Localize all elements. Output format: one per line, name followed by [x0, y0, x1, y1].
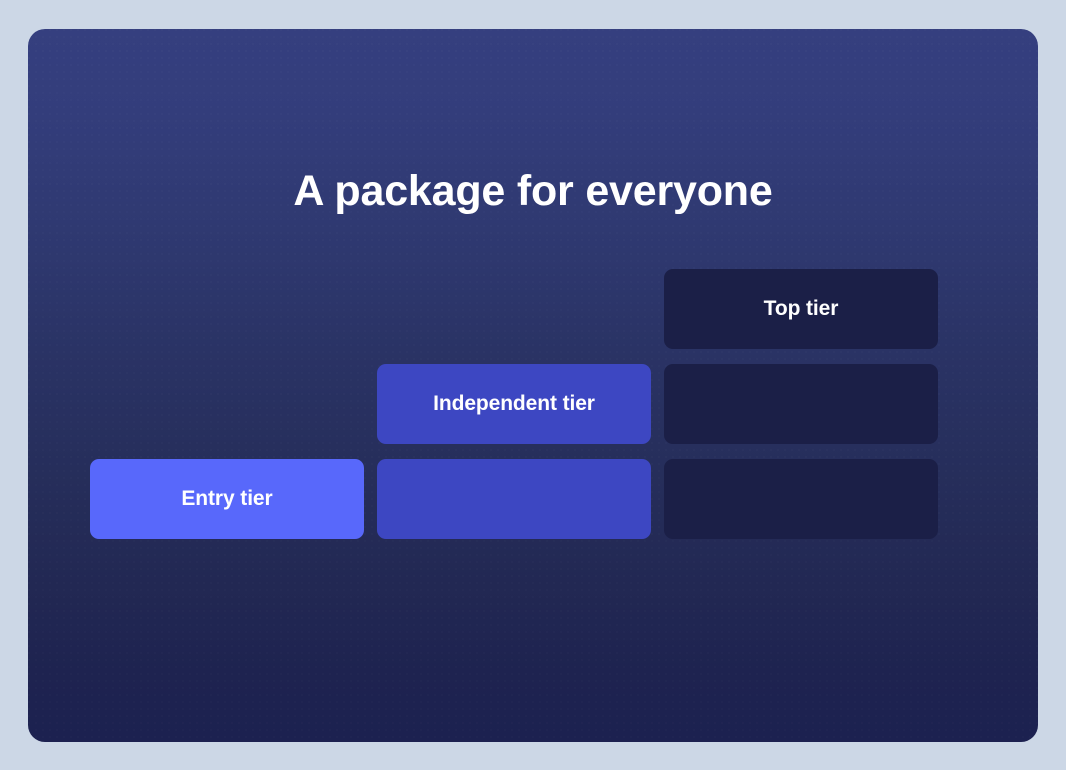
- empty-slot-independent-row1: [377, 269, 651, 349]
- tier-label-entry: Entry tier: [181, 487, 272, 511]
- tier-label-independent: Independent tier: [433, 392, 595, 416]
- pricing-card: A package for everyone Top tier Independ…: [28, 29, 1038, 742]
- empty-slot-entry-row2: [90, 364, 364, 444]
- empty-slot-entry-row1: [90, 269, 364, 349]
- tier-staircase-chart: Top tier Independent tier Entry tier: [90, 269, 998, 547]
- page-title: A package for everyone: [28, 29, 1038, 215]
- tier-block-independent-tier-fill-2[interactable]: [377, 459, 651, 539]
- tier-block-top-tier-fill-3[interactable]: [664, 459, 938, 539]
- tier-label-top: Top tier: [764, 297, 839, 321]
- tier-block-independent-tier-label[interactable]: Independent tier: [377, 364, 651, 444]
- tier-block-entry-tier-label[interactable]: Entry tier: [90, 459, 364, 539]
- tier-block-top-tier-label[interactable]: Top tier: [664, 269, 938, 349]
- tier-block-top-tier-fill-2[interactable]: [664, 364, 938, 444]
